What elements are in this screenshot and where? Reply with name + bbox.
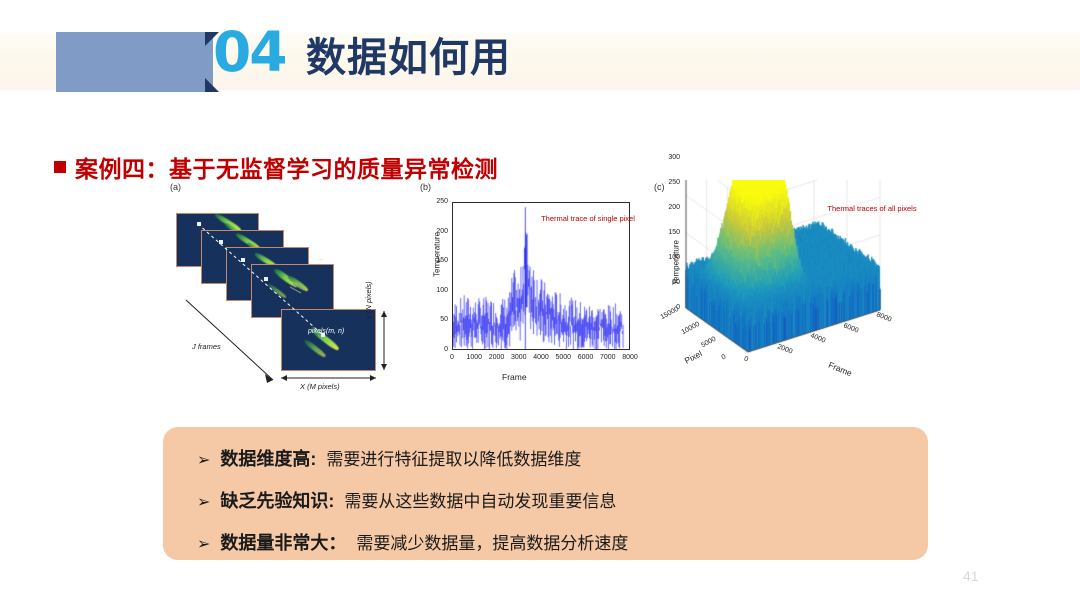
sample-dot [241,258,245,262]
panel-b-plot-area [452,202,630,350]
figure-panel-c: (c) Temperature Thermal traces of all pi… [652,180,932,398]
sample-dot [219,240,223,244]
pixel-label: pixels(m, n) [308,328,344,335]
tick-label: 0 [422,346,448,353]
list-item: ➢ 数据维度高: 需要进行特征提取以降低数据维度 [197,445,928,471]
tick-label: 50 [656,279,680,286]
square-bullet-icon [54,161,66,173]
arrow-bullet-icon: ➢ [197,453,210,469]
tick-label: 8000 [615,354,645,361]
thermal-trace-canvas [453,203,630,350]
figure-row: (a) [0,180,1080,405]
arrow-bullet-icon: ➢ [197,537,210,553]
page-number: 41 [963,568,979,584]
tick-label: 100 [422,287,448,294]
tick-label: 250 [422,198,448,205]
subtitle-row: 案例四：基于无监督学习的质量异常检测 [54,150,498,184]
bullet-lead-1: 缺乏先验知识: [220,487,334,513]
x-axis-label: X (M pixels) [300,382,340,391]
subtitle-text: 案例四：基于无监督学习的质量异常检测 [75,150,498,184]
list-item: ➢ 数据量非常大： 需要减少数据量，提高数据分析速度 [197,529,928,555]
tick-label: 100 [656,254,680,261]
frames-axis-label: J frames [192,342,221,351]
figure-panel-b: (b) Temperature Frame Thermal trace of s… [418,180,646,398]
frames-ellipsis: ... [318,255,324,262]
panel-b-label: (b) [420,182,431,192]
tick-label: 250 [656,179,680,186]
tick-label: 300 [656,154,680,161]
bullet-lead-0: 数据维度高: [220,445,316,471]
sample-dot [197,222,201,226]
frame-label-u1: U₁ [276,200,283,207]
panel-b-x-axis-title: Frame [502,372,527,382]
arrow-bullet-icon: ➢ [197,495,210,511]
bullet-rest-1: 需要从这些数据中自动发现重要信息 [344,487,616,512]
y-axis-label: Y (N pixels) [364,281,373,320]
tick-label: 200 [422,228,448,235]
page-title: 数据如何用 [306,34,511,82]
section-number: 04 [213,25,286,80]
tick-label: 200 [656,204,680,211]
panel-b-annotation: Thermal trace of single pixel [540,214,636,224]
figure-panel-a: (a) [168,180,413,398]
tick-label: 150 [656,229,680,236]
key-challenges-callout: ➢ 数据维度高: 需要进行特征提取以降低数据维度 ➢ 缺乏先验知识: 需要从这些… [163,427,928,560]
bullet-rest-0: 需要进行特征提取以降低数据维度 [326,445,581,470]
sample-dot [264,277,268,281]
frame-label-u2: U₂ [296,220,304,227]
tick-label: 150 [422,257,448,264]
panel-c-annotation: Thermal traces of all pixels [820,204,924,214]
bullet-lead-2: 数据量非常大： [220,529,346,555]
tick-label: 50 [422,316,448,323]
header-accent-rectangle [56,32,213,92]
bullet-rest-2: 需要减少数据量，提高数据分析速度 [356,529,628,554]
list-item: ➢ 缺乏先验知识: 需要从这些数据中自动发现重要信息 [197,487,928,513]
